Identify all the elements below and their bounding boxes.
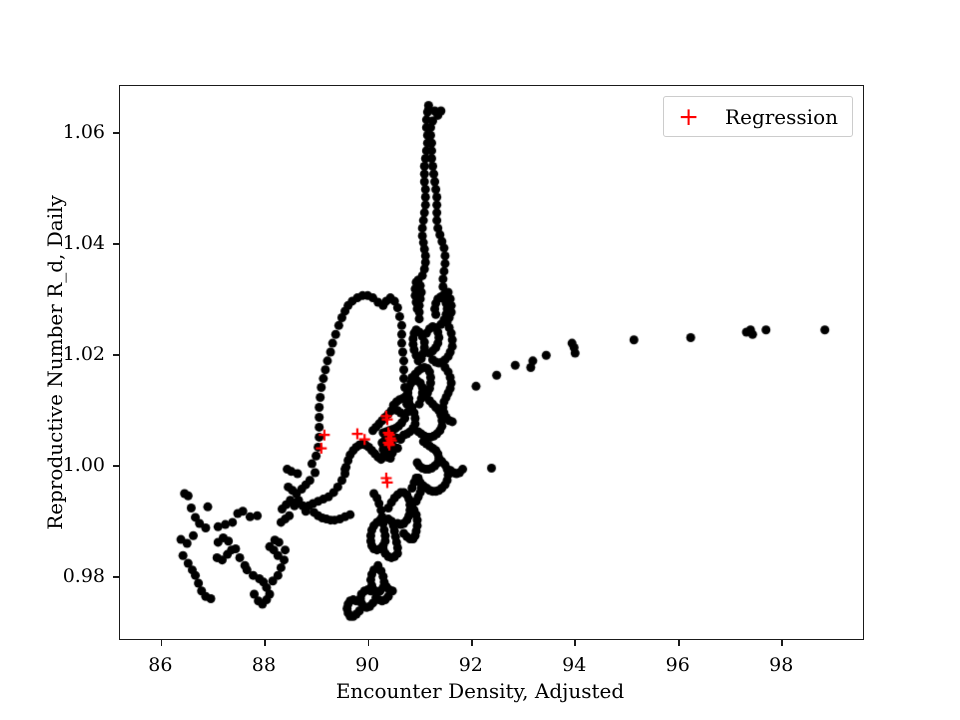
x-tick-label: 94 [562, 654, 586, 676]
plot-area: + Regression [119, 85, 864, 640]
x-tick-label: 86 [148, 654, 172, 676]
x-tick-label: 98 [769, 654, 793, 676]
x-tick-label: 88 [252, 654, 276, 676]
x-tick-mark [368, 639, 370, 646]
y-axis-label: Reproductive Number R_d, Daily [40, 85, 70, 640]
legend[interactable]: + Regression [663, 96, 853, 137]
y-tick-mark [113, 576, 120, 578]
x-tick-mark [678, 639, 680, 646]
x-tick-label: 92 [459, 654, 483, 676]
y-tick-mark [113, 465, 120, 467]
y-tick-mark [113, 132, 120, 134]
x-tick-label: 96 [666, 654, 690, 676]
x-tick-mark [471, 639, 473, 646]
y-tick-mark [113, 243, 120, 245]
scatter-canvas [120, 86, 863, 639]
x-tick-mark [781, 639, 783, 646]
y-tick-mark [113, 354, 120, 356]
x-tick-mark [264, 639, 266, 646]
x-tick-mark [574, 639, 576, 646]
legend-label-regression: Regression [725, 105, 838, 129]
scatter-plot-figure: + Regression 0.981.001.021.041.068688909… [0, 0, 960, 720]
x-axis-label: Encounter Density, Adjusted [0, 679, 960, 703]
regression-plus-icon: + [678, 104, 699, 129]
x-tick-label: 90 [355, 654, 379, 676]
x-tick-mark [161, 639, 163, 646]
